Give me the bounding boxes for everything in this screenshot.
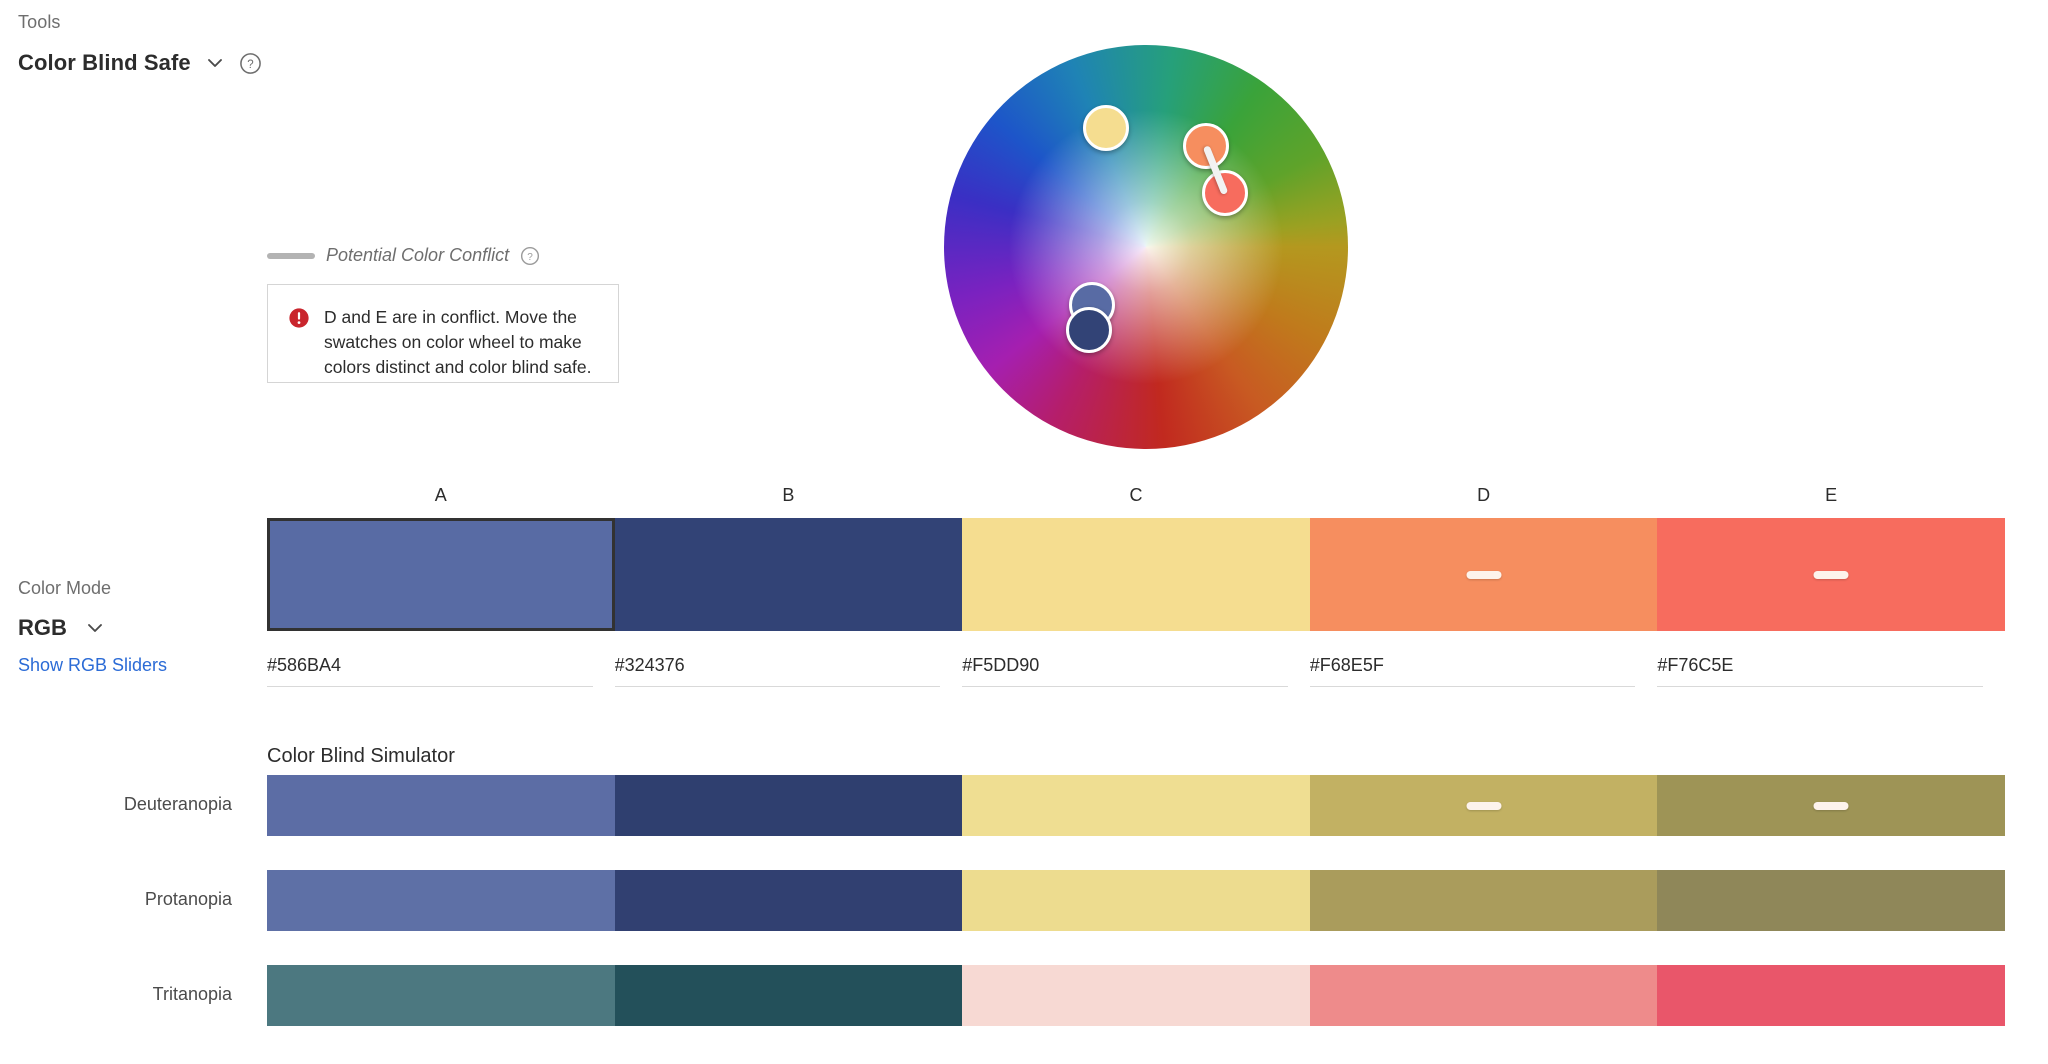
tools-dropdown[interactable]: Color Blind Safe ?: [18, 50, 262, 76]
hex-input-b[interactable]: [615, 655, 941, 687]
swatch-column-label-a: A: [267, 485, 615, 506]
color-swatch-e[interactable]: [1657, 518, 2005, 631]
simulator-swatch-a: [267, 965, 615, 1026]
hex-input-row: [267, 655, 2005, 687]
simulator-swatch-b: [615, 870, 963, 931]
conflict-legend-label: Potential Color Conflict: [326, 245, 509, 266]
hex-input-e[interactable]: [1657, 655, 1983, 687]
simulator-swatch-e: [1657, 775, 2005, 836]
svg-text:?: ?: [527, 251, 533, 262]
simulator-swatch-c: [962, 775, 1310, 836]
conflict-indicator: [1466, 802, 1501, 810]
color-mode-block: Color Mode RGB: [18, 578, 111, 641]
simulator-swatch-b: [615, 775, 963, 836]
simulator-swatch-a: [267, 870, 615, 931]
conflict-legend-swatch: [267, 253, 315, 259]
simulator-swatch-c: [962, 965, 1310, 1026]
conflict-alert-message: D and E are in conflict. Move the swatch…: [324, 305, 600, 382]
simulator-swatch-d: [1310, 775, 1658, 836]
simulator-row-tritanopia: [267, 965, 2005, 1026]
simulator-row-protanopia: [267, 870, 2005, 931]
alert-circle-icon: [288, 307, 310, 329]
color-swatch-b[interactable]: [615, 518, 963, 631]
color-mode-selected-value: RGB: [18, 615, 67, 641]
help-circle-icon[interactable]: ?: [520, 246, 540, 266]
tools-label: Tools: [18, 12, 262, 33]
hex-input-cell: [962, 655, 1310, 687]
svg-text:?: ?: [247, 58, 253, 70]
simulator-swatch-d: [1310, 870, 1658, 931]
simulator-swatch-a: [267, 775, 615, 836]
swatch-column-labels: ABCDE: [267, 485, 2005, 506]
hex-input-cell: [615, 655, 963, 687]
swatch-column-label-c: C: [962, 485, 1310, 506]
conflict-indicator: [1814, 802, 1849, 810]
color-swatch-c[interactable]: [962, 518, 1310, 631]
color-swatch-a[interactable]: [267, 518, 615, 631]
simulator-swatch-e: [1657, 965, 2005, 1026]
conflict-indicator: [1466, 571, 1501, 579]
swatch-column-label-e: E: [1657, 485, 2005, 506]
hex-input-a[interactable]: [267, 655, 593, 687]
chevron-down-icon[interactable]: [205, 53, 225, 73]
show-rgb-sliders-link[interactable]: Show RGB Sliders: [18, 655, 167, 676]
hex-input-cell: [267, 655, 615, 687]
color-mode-dropdown[interactable]: RGB: [18, 615, 111, 641]
swatch-column-label-d: D: [1310, 485, 1658, 506]
help-circle-icon[interactable]: ?: [239, 52, 262, 75]
simulator-row-label-deuteranopia: Deuteranopia: [0, 794, 232, 815]
color-swatch-d[interactable]: [1310, 518, 1658, 631]
color-mode-label: Color Mode: [18, 578, 111, 599]
conflict-indicator: [1814, 571, 1849, 579]
color-blind-safe-panel: Tools Color Blind Safe ? Potential Color…: [0, 0, 2048, 1064]
conflict-alert: D and E are in conflict. Move the swatch…: [267, 284, 619, 383]
wheel-marker-b[interactable]: [1066, 307, 1112, 353]
hex-input-cell: [1310, 655, 1658, 687]
simulator-row-label-tritanopia: Tritanopia: [0, 984, 232, 1005]
color-wheel[interactable]: [944, 45, 1348, 449]
simulator-row-deuteranopia: [267, 775, 2005, 836]
chevron-down-icon[interactable]: [85, 618, 105, 638]
simulator-title: Color Blind Simulator: [267, 745, 455, 768]
simulator-swatch-e: [1657, 870, 2005, 931]
color-wheel-gradient[interactable]: [944, 45, 1348, 449]
tools-block: Tools Color Blind Safe ?: [18, 12, 262, 76]
wheel-marker-c[interactable]: [1083, 105, 1129, 151]
simulator-swatch-d: [1310, 965, 1658, 1026]
hex-input-cell: [1657, 655, 2005, 687]
simulator-swatch-c: [962, 870, 1310, 931]
hex-input-d[interactable]: [1310, 655, 1636, 687]
simulator-row-label-protanopia: Protanopia: [0, 889, 232, 910]
tools-selected-value: Color Blind Safe: [18, 50, 191, 76]
conflict-legend: Potential Color Conflict ?: [267, 245, 540, 266]
simulator-swatch-b: [615, 965, 963, 1026]
hex-input-c[interactable]: [962, 655, 1288, 687]
swatch-row: [267, 518, 2005, 631]
swatch-column-label-b: B: [615, 485, 963, 506]
